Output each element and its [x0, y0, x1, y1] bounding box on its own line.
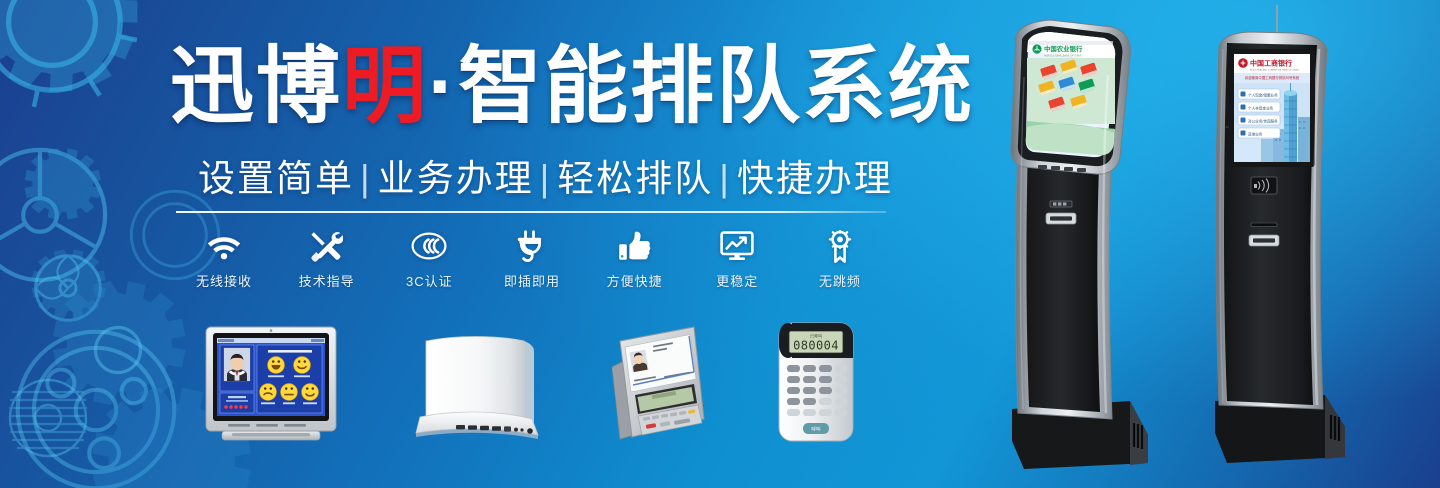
feature-item-plug-and-play: 即插即用: [484, 228, 580, 290]
ccc-certification-icon: [381, 228, 477, 264]
feature-item-wireless: 无线接收: [176, 228, 272, 290]
wifi-icon: [176, 228, 272, 264]
svg-text:AGRICULTURAL BANK OF CHINA: AGRICULTURAL BANK OF CHINA: [1044, 55, 1082, 58]
svg-text:呼叫: 呼叫: [811, 426, 821, 433]
subtitle-item-1: 设置简单: [198, 158, 354, 199]
feature-label: 无线接收: [176, 271, 272, 290]
svg-text:中国工商银行: 中国工商银行: [1250, 58, 1292, 67]
svg-text:个人现金/储蓄业务: 个人现金/储蓄业务: [1248, 92, 1278, 97]
svg-text:中国农业银行: 中国农业银行: [1044, 44, 1083, 53]
promotional-banner: 迅博明·智能排队系统 设置简单|业务办理|轻松排队|快捷办理 无线接收: [0, 0, 1440, 488]
award-medal-icon: [792, 228, 888, 264]
svg-text:对公业务/贵宾服务: 对公业务/贵宾服务: [1248, 118, 1278, 123]
feature-label: 技术指导: [279, 271, 375, 290]
product-call-keypad: 已呼叫 080004: [773, 321, 859, 448]
horizontal-divider: [176, 211, 886, 213]
svg-text:080004: 080004: [793, 339, 839, 353]
kiosk-standing-queue: 中国农业银行 AGRICULTURAL BANK OF CHINA: [980, 17, 1170, 482]
power-plug-icon: [484, 228, 580, 264]
svg-text:个人非现金业务: 个人非现金业务: [1248, 105, 1274, 110]
thumbs-up-icon: [587, 228, 683, 264]
subtitle: 设置简单|业务办理|轻松排队|快捷办理: [198, 148, 893, 202]
feature-item-technical-support: 技术指导: [279, 228, 375, 290]
feature-item-ccc-certification: 3C认证: [381, 228, 477, 290]
product-desktop-evaluator: [590, 323, 710, 452]
product-queue-host-unit: [412, 333, 547, 450]
subtitle-item-4: 快捷办理: [737, 158, 893, 199]
feature-label: 无跳频: [792, 271, 888, 290]
subtitle-item-3: 轻松排队: [557, 158, 713, 199]
title-part-3: ·智能排队系统: [428, 39, 974, 133]
feature-item-no-frequency-hopping: 无跳频: [792, 228, 888, 290]
feature-label: 即插即用: [484, 271, 580, 290]
feature-item-convenient: 方便快捷: [587, 228, 683, 290]
kiosk-showcase: 中国农业银行 AGRICULTURAL BANK OF CHINA: [970, 0, 1440, 488]
feature-item-more-stable: 更稳定: [689, 228, 785, 290]
feature-label: 方便快捷: [587, 271, 683, 290]
product-showcase: 已呼叫 080004: [190, 318, 890, 454]
feature-label: 3C认证: [381, 271, 477, 290]
subtitle-separator: |: [534, 158, 558, 199]
feature-label: 更稳定: [689, 271, 785, 290]
product-evaluation-monitor: [198, 323, 344, 452]
subtitle-item-2: 业务办理: [378, 158, 534, 199]
subtitle-separator: |: [713, 158, 737, 199]
page-title: 迅博明·智能排队系统: [170, 44, 974, 128]
tools-icon: [279, 228, 375, 264]
svg-text:INDUSTRIAL AND COMMERCIAL BANK: INDUSTRIAL AND COMMERCIAL BANK OF CHINA: [1250, 69, 1299, 72]
title-part-1: 迅博: [170, 39, 342, 133]
title-part-highlight: 明: [342, 39, 428, 133]
svg-text:欢迎使用中国工商银行排队叫号系统: 欢迎使用中国工商银行排队叫号系统: [1245, 75, 1300, 80]
monitor-chart-icon: [689, 228, 785, 264]
feature-list: 无线接收 技术指导: [176, 228, 888, 290]
svg-text:其他业务: 其他业务: [1248, 131, 1263, 136]
banner-content: 迅博明·智能排队系统 设置简单|业务办理|轻松排队|快捷办理 无线接收: [0, 0, 940, 488]
kiosk-standing-ticket: 中国工商银行 INDUSTRIAL AND COMMERCIAL BANK OF…: [1185, 5, 1385, 480]
subtitle-separator: |: [354, 158, 378, 199]
